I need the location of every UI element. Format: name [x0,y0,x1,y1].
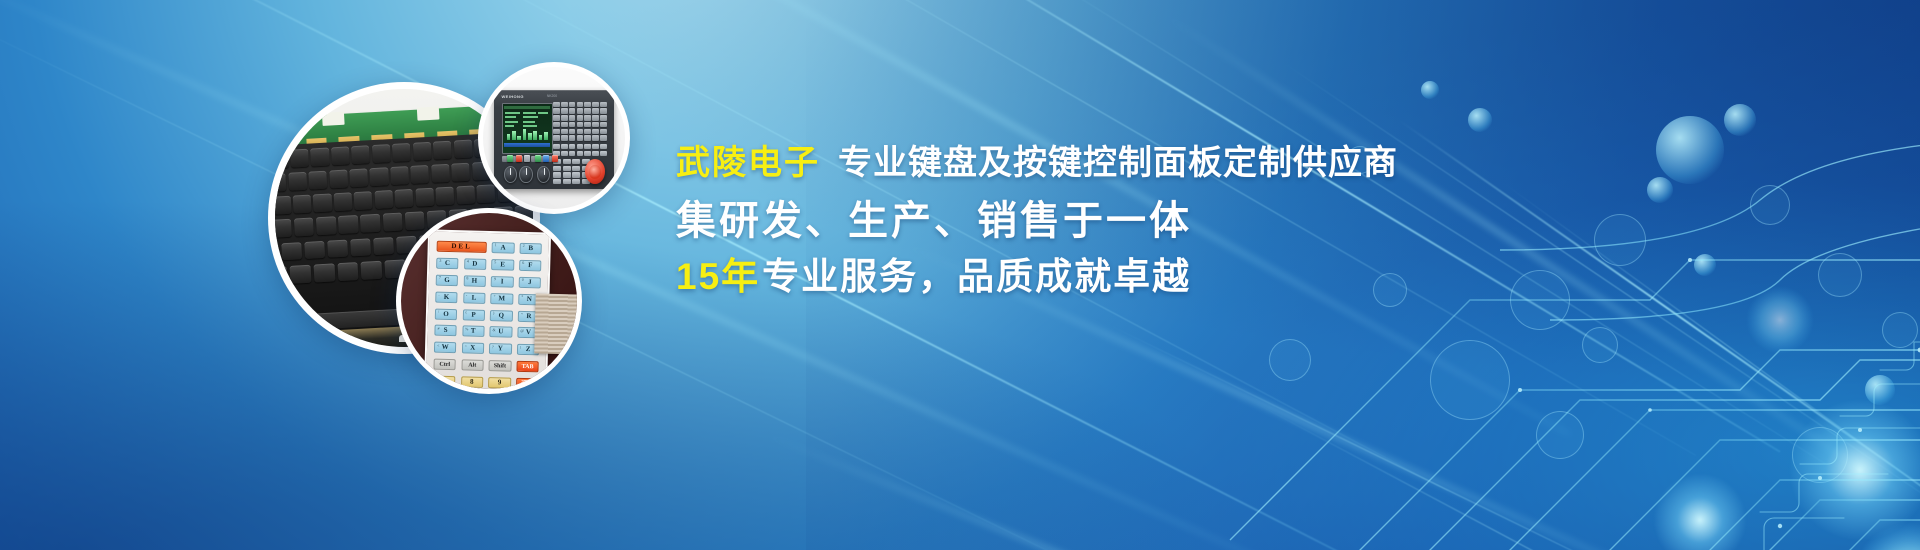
cnc-key[interactable] [561,122,568,128]
keypad-key[interactable]: 7G [435,274,458,286]
keyboard-key[interactable] [293,195,312,214]
keypad-key-label: W [441,344,448,351]
keyboard-key[interactable] [310,147,329,166]
cnc-key[interactable] [600,102,607,108]
keypad-key[interactable]: 9I [490,275,513,287]
cnc-key[interactable] [592,129,599,135]
keypad-key-label: N [526,295,531,302]
keypad-key[interactable]: %T [461,325,484,337]
keypad-key[interactable]: &U [489,326,512,338]
keypad-key-sup: / [438,309,439,313]
keypad-key-sup: # [437,326,439,330]
cnc-numeric-key[interactable] [572,179,580,184]
cnc-key[interactable] [569,108,576,114]
keypad-key-sup: < [437,343,439,347]
keyboard-key[interactable] [415,188,434,207]
keypad-key[interactable]: 5E [491,258,514,270]
cnc-scene: WEIHONG NK200 [483,67,625,209]
keypad-key-label: B [528,244,533,251]
cnc-key[interactable] [592,102,599,108]
keyboard-key[interactable] [451,163,470,182]
keypad-key-label: TAB [521,363,533,369]
keypad-key-label: G [444,276,450,283]
keypad-key-label: Shift [493,363,505,369]
keyboard-key[interactable] [374,190,393,209]
cnc-numeric-key[interactable] [572,172,580,177]
cnc-numeric-key[interactable] [572,159,580,164]
keypad-key[interactable]: (P [462,308,485,320]
keypad-key-label: C [444,259,449,266]
cnc-emergency-stop-button[interactable] [585,159,605,184]
keypad-faceplate: DEL1A2B3C4D5E6F7G8H9I0J.K-L+M*N/O(P)Q=R#… [424,229,551,389]
cnc-key[interactable] [561,115,568,121]
cnc-function-key[interactable] [584,151,591,156]
keyboard-key[interactable] [275,266,287,285]
cnc-key[interactable] [569,115,576,121]
keyboard-key[interactable] [308,171,327,190]
keyboard-key[interactable] [313,263,335,282]
cnc-function-key[interactable] [569,151,576,156]
keypad-key-sup: ) [493,311,494,315]
keypad-key[interactable]: -L [462,292,485,304]
company-name: 武陵电子 [676,144,820,182]
keyboard-key[interactable] [354,191,373,210]
cnc-key[interactable] [553,102,560,108]
cnc-brand-label: WEIHONG [502,94,524,99]
keyboard-key[interactable] [433,140,452,159]
keypad-key-sup: - [466,293,467,297]
keypad-key[interactable]: 4D [463,258,486,270]
cnc-key[interactable] [569,135,576,141]
keyboard-key[interactable] [456,186,475,205]
cnc-numeric-key[interactable] [553,166,561,171]
cnc-function-key[interactable] [561,144,568,149]
keypad-key-label: Z [525,346,530,353]
cnc-key[interactable] [584,122,591,128]
cnc-button-red-1[interactable] [516,155,522,162]
cnc-numeric-key[interactable] [563,159,571,164]
keypad-key-sup: 9 [493,277,495,281]
keypad-key-label: 9 [497,379,501,386]
keypad-key-label: E [500,261,505,268]
keypad-key[interactable]: >X [461,342,484,354]
cnc-function-key[interactable] [577,144,584,149]
cnc-panel-body: WEIHONG NK200 [494,90,613,189]
keypad-key-sup: ( [465,310,466,314]
cnc-key[interactable] [577,108,584,114]
cnc-numeric-key[interactable] [563,166,571,171]
keyboard-key[interactable] [275,149,289,168]
keyboard-key[interactable] [476,184,495,203]
keyboard-key[interactable] [351,145,370,164]
keyboard-key[interactable] [373,237,394,256]
keypad-key[interactable]: )Q [489,309,512,321]
keypad-key-sup: * [521,295,523,299]
keypad-key[interactable]: 9 [488,377,511,389]
keyboard-key[interactable] [304,240,325,259]
keyboard-key[interactable] [404,212,424,231]
cnc-knob-right[interactable] [537,166,550,183]
keyboard-key[interactable] [329,169,348,188]
keypad-key-label: F [528,261,532,268]
keypad-key[interactable]: /O [434,308,457,320]
cnc-key[interactable] [553,135,560,141]
cnc-key[interactable] [577,122,584,128]
cnc-function-key[interactable] [561,151,568,156]
cnc-function-key[interactable] [592,151,599,156]
keypad-ribbon-cable [534,293,577,354]
cnc-function-key[interactable] [600,151,607,156]
cnc-key[interactable] [561,129,568,135]
keyboard-key[interactable] [392,143,411,162]
cnc-function-key[interactable] [600,144,607,149]
cnc-numeric-key[interactable] [563,179,571,184]
keypad-key-label: J [528,278,532,285]
keypad-key-sup: 3 [439,259,441,263]
keypad-key[interactable]: TAB [516,361,539,373]
keypad-key-grid[interactable]: DEL1A2B3C4D5E6F7G8H9I0J.K-L+M*N/O(P)Q=R#… [433,240,542,375]
keypad-key-sup: 8 [466,276,468,280]
keypad-key-label: Ctrl [439,361,450,367]
cnc-key[interactable] [584,102,591,108]
headline-line-3: 15年专业服务，品质成就卓越 [676,258,1456,295]
keypad-key-label: Y [497,345,502,352]
cnc-key[interactable] [561,108,568,114]
keypad-key-label: 返回 [521,380,533,386]
keypad-key[interactable]: Ctrl [433,359,456,371]
keypad-key[interactable]: 7 [433,375,456,387]
keyboard-key[interactable] [288,172,307,191]
cnc-button-green-1[interactable] [507,155,513,162]
keypad-key-sup: % [465,327,468,331]
keyboard-key[interactable] [290,265,312,284]
cnc-key[interactable] [553,129,560,135]
keypad-key-label: T [470,328,475,335]
cnc-numeric-key[interactable] [553,179,561,184]
cnc-key[interactable] [553,115,560,121]
keyboard-key[interactable] [370,167,389,186]
hero-banner: WEIHONG NK200 [0,0,1920,550]
keypad-key-label: K [443,293,449,300]
headline-line-2-text: 集研发、生产、销售于一体 [676,199,1192,243]
cnc-key[interactable] [600,129,607,135]
keypad-key-label: D [472,260,477,267]
keypad-scene: DEL1A2B3C4D5E6F7G8H9I0J.K-L+M*N/O(P)Q=R#… [401,213,577,389]
keyboard-key[interactable] [316,217,336,236]
keypad-key-label: 8 [470,378,474,385]
keyboard-key[interactable] [281,242,302,261]
cnc-button-gray-1[interactable] [524,155,530,162]
cnc-key[interactable] [584,129,591,135]
cnc-function-key[interactable] [569,144,576,149]
keyboard-key[interactable] [413,141,432,160]
keyboard-key[interactable] [331,146,350,165]
keypad-key-label: O [443,310,449,317]
pcb-mount-tab [417,106,440,120]
keyboard-key[interactable] [431,164,450,183]
cnc-main-keypad[interactable] [553,102,608,142]
product-photo-cluster: WEIHONG NK200 [268,62,688,482]
keypad-key-label: Alt [468,362,476,368]
cnc-key[interactable] [600,122,607,128]
keypad-key-label: I [500,278,503,285]
cnc-key[interactable] [592,135,599,141]
cnc-key[interactable] [592,115,599,121]
cnc-key[interactable] [569,129,576,135]
keypad-key-sup: 6 [522,261,524,265]
keypad-key-sup: = [520,312,522,316]
keypad-key-sup: + [493,294,495,298]
keypad-key[interactable]: 6F [519,259,542,271]
cnc-key[interactable] [592,122,599,128]
keypad-key[interactable]: +M [490,292,513,304]
keypad-key-label: M [498,294,505,301]
cnc-control-panel-photo: WEIHONG NK200 [478,62,630,214]
keypad-key-label: P [471,311,475,318]
keypad-key[interactable]: .K [435,291,458,303]
cnc-key[interactable] [600,108,607,114]
cnc-model-label: NK200 [547,94,557,98]
cnc-key[interactable] [584,135,591,141]
keypad-key-label: A [500,244,505,251]
keypad-key-label: S [443,327,447,334]
cnc-function-key[interactable] [577,151,584,156]
cnc-button-red-2[interactable] [552,155,558,162]
keypad-key-sup: . [438,292,439,296]
keyboard-key[interactable] [382,213,402,232]
keypad-key-sup: 4 [466,259,468,263]
cnc-key[interactable] [577,115,584,121]
cnc-key[interactable] [553,108,560,114]
keypad-key-sup: ! [520,345,521,349]
headline-line-1-text: 专业键盘及按键控制面板定制供应商 [838,144,1398,182]
years-badge: 15年 [676,256,760,297]
keypad-key[interactable]: ?Y [489,343,512,355]
keypad-key-sup: 0 [521,278,523,282]
keyboard-key[interactable] [275,243,279,262]
keyboard-key[interactable] [360,214,380,233]
keypad-key-sup: 1 [494,243,496,247]
cnc-key[interactable] [584,115,591,121]
keyboard-key[interactable] [275,219,292,238]
keypad-key-label: DEL [451,242,472,250]
cnc-numeric-key[interactable] [553,172,561,177]
keyboard-key[interactable] [337,262,359,281]
keypad-key[interactable]: 8 [460,376,483,388]
keypad-key-sup: @ [520,328,524,332]
keypad-key-sup: & [492,328,495,332]
cnc-button-green-2[interactable] [535,155,541,162]
headline-line-1: 武陵电子专业键盘及按键控制面板定制供应商 [676,146,1456,180]
keypad-key[interactable]: Alt [461,359,484,371]
cnc-key[interactable] [584,108,591,114]
membrane-keypad-photo: DEL1A2B3C4D5E6F7G8H9I0J.K-L+M*N/O(P)Q=R#… [396,208,582,394]
cnc-key[interactable] [600,135,607,141]
keypad-key-label: Q [498,311,504,318]
cnc-key[interactable] [592,108,599,114]
cnc-key[interactable] [561,135,568,141]
cnc-key[interactable] [553,122,560,128]
keyboard-key[interactable] [338,215,358,234]
keypad-key-label: V [525,329,530,336]
cnc-key[interactable] [561,102,568,108]
cnc-key[interactable] [569,102,576,108]
keypad-key[interactable]: 2B [519,242,542,254]
keypad-key-label: H [471,277,477,284]
keyboard-key[interactable] [290,148,309,167]
cnc-function-keys[interactable] [553,144,608,156]
cnc-button-blue-1[interactable] [543,155,549,162]
keypad-key-label: 7 [442,378,446,385]
pcb-mount-tab [323,111,346,125]
cnc-function-key[interactable] [553,144,560,149]
keyboard-key[interactable] [349,168,368,187]
cnc-knob-center[interactable] [519,166,532,183]
cnc-key[interactable] [577,129,584,135]
cnc-key[interactable] [600,115,607,121]
cnc-screen-bars [505,127,549,140]
keyboard-key[interactable] [327,239,348,258]
cnc-knob-left[interactable] [504,166,517,183]
cnc-screen-header [504,106,549,109]
headline-line-3-text: 专业服务，品质成就卓越 [762,256,1191,297]
keyboard-key[interactable] [411,165,430,184]
headline-line-2: 集研发、生产、销售于一体 [676,201,1456,241]
keyboard-key[interactable] [275,173,287,192]
cnc-key[interactable] [577,135,584,141]
cnc-numeric-key[interactable] [563,172,571,177]
keyboard-key[interactable] [275,196,291,215]
keyboard-key[interactable] [361,261,383,280]
keyboard-key[interactable] [372,144,391,163]
keyboard-key[interactable] [313,194,332,213]
keyboard-key[interactable] [334,192,353,211]
keypad-key-sup: ? [492,345,494,349]
keypad-key-label: L [471,294,476,301]
keypad-key[interactable]: #S [434,325,457,337]
keyboard-key[interactable] [390,166,409,185]
keypad-key[interactable]: 0J [518,276,541,288]
cnc-key[interactable] [569,122,576,128]
keypad-key-sup: > [464,344,466,348]
keypad-key-label: U [498,328,503,335]
keyboard-key[interactable] [294,218,314,237]
keypad-key[interactable]: <W [434,342,457,354]
keyboard-key[interactable] [350,238,371,257]
cnc-function-key[interactable] [584,144,591,149]
keypad-key[interactable]: Shift [488,360,511,372]
keypad-key[interactable]: 1A [491,241,514,253]
cnc-lcd-screen [502,103,553,155]
keypad-key-label: X [470,345,475,352]
keypad-key-sup: 2 [522,244,524,248]
keypad-key[interactable]: 返回 [516,378,539,389]
keyboard-key[interactable] [453,139,472,158]
keypad-key[interactable]: 8H [463,275,486,287]
keypad-key[interactable]: DEL [436,240,486,252]
cnc-function-key[interactable] [592,144,599,149]
cnc-screen-statusbar [504,143,549,147]
headline-copy: 武陵电子专业键盘及按键控制面板定制供应商 集研发、生产、销售于一体 15年专业服… [676,146,1456,295]
keypad-key-sup: 5 [494,260,496,264]
keypad-key-label: R [526,312,531,319]
cnc-numeric-key[interactable] [572,166,580,171]
cnc-key[interactable] [577,102,584,108]
keyboard-key[interactable] [395,189,414,208]
keyboard-key[interactable] [436,187,455,206]
keypad-key[interactable]: 3C [436,257,459,269]
keypad-key-sup: 7 [438,275,440,279]
